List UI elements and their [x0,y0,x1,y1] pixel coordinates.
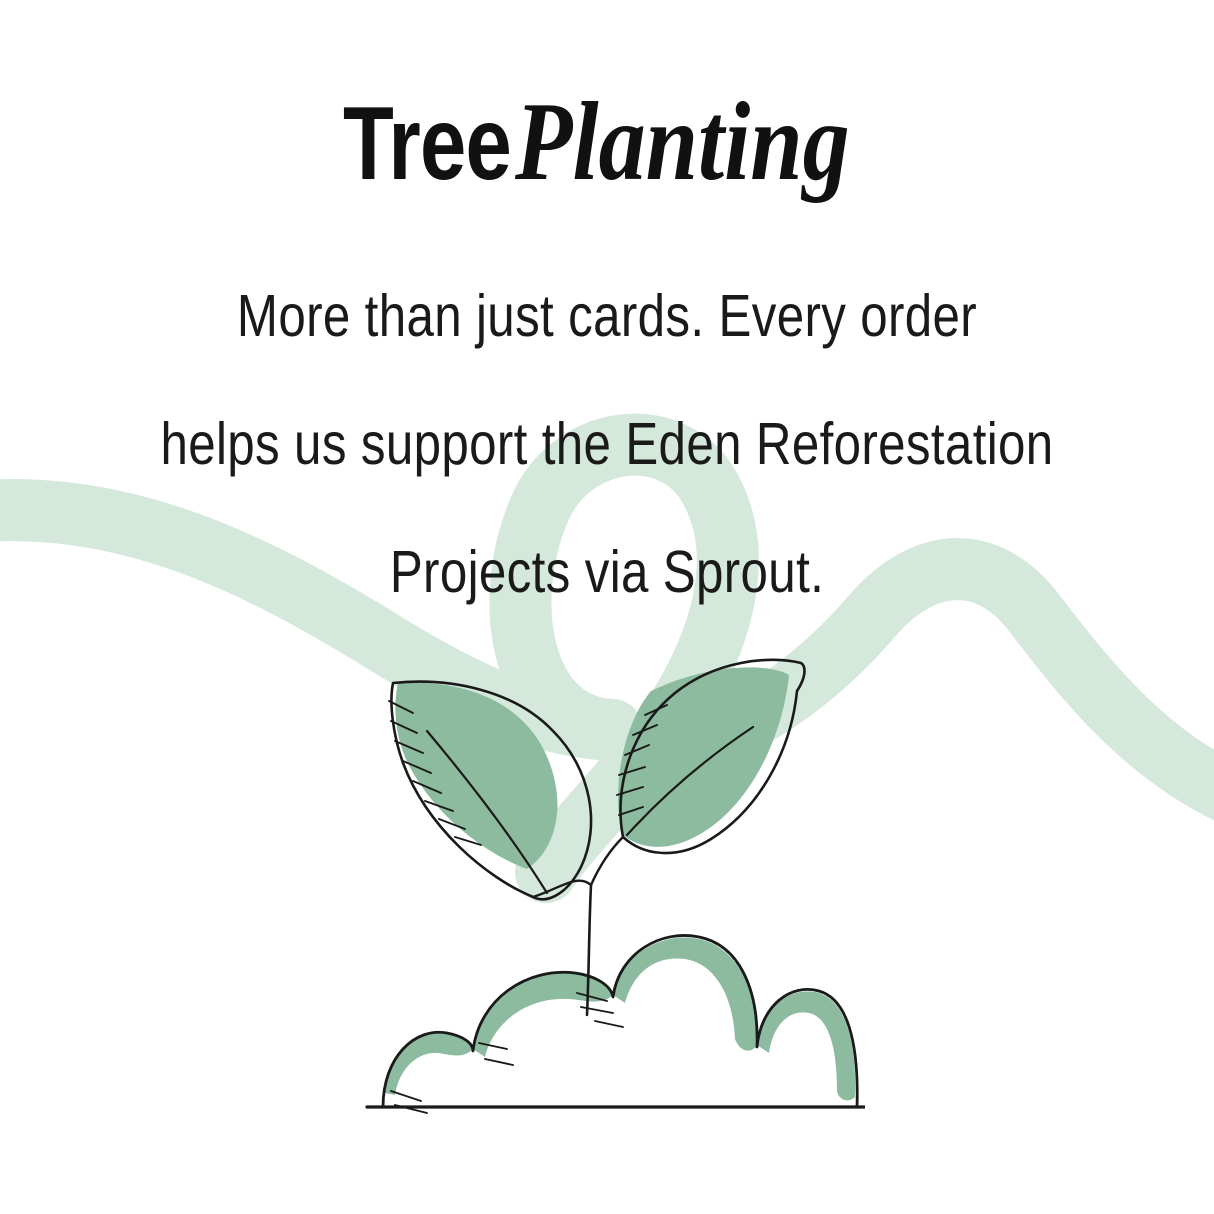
subtitle-line-3: Projects via Sprout. [73,504,1141,640]
leaf-left-fill [395,683,557,869]
subtitle-line-1: More than just cards. Every order [73,248,1141,384]
text-block: TreePlanting More than just cards. Every… [0,0,1214,636]
stem-petiole-right [591,837,623,885]
soil-mound-outline [383,935,857,1107]
page-title-bold-word: Tree [343,92,511,196]
soil-bump-2-shade [473,973,613,1057]
leaf-fills [395,667,789,869]
tree-planting-graphic: TreePlanting More than just cards. Every… [0,0,1214,1214]
page-title-italic-word: Planting [515,86,850,198]
sprout-illustration [355,655,865,1125]
leaf-right-fill [618,667,789,846]
page-title: TreePlanting [0,0,1214,198]
page-subtitle: More than just cards. Every order helps … [0,198,1214,636]
soil-green-shading [385,937,855,1100]
subtitle-line-2: helps us support the Eden Reforestation [73,376,1141,512]
soil-bump-1-shade [385,1033,473,1095]
